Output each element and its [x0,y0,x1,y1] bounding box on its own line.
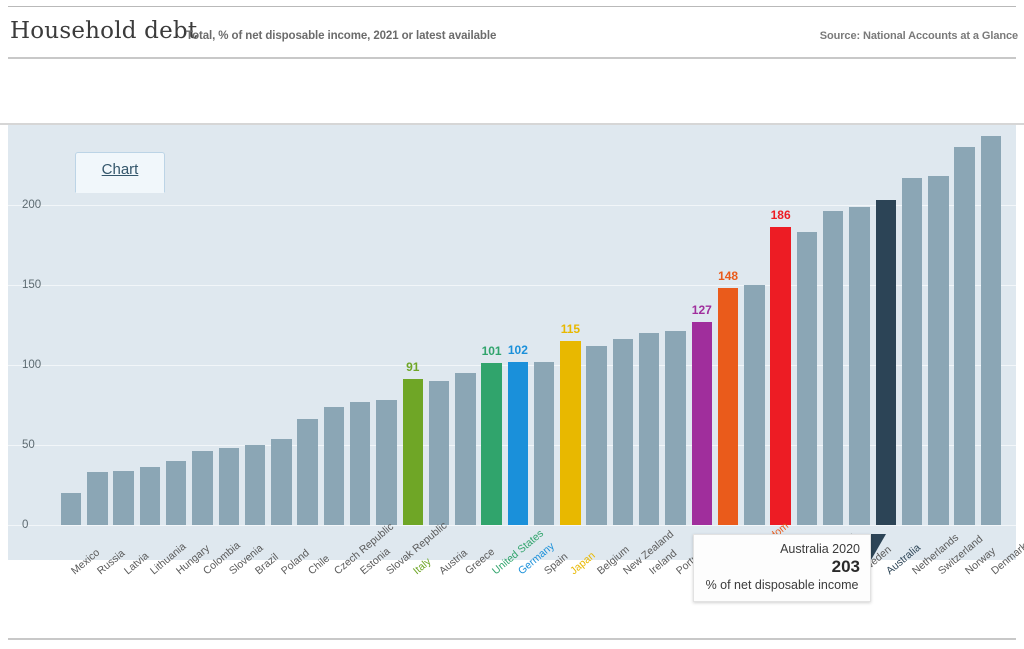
source-label: Source: National Accounts at a Glance [820,30,1018,42]
tooltip-unit: % of net disposable income [704,578,860,592]
bar-belgium[interactable] [586,346,606,525]
tooltip-tail [871,534,886,560]
household-debt-chart-page: Household debt Total, % of net disposabl… [0,0,1024,649]
tooltip-title: Australia 2020 [704,542,860,556]
bar-new-zealand[interactable] [613,339,633,525]
bar-ireland[interactable] [639,333,659,525]
tooltip: Australia 2020 203 % of net disposable i… [693,534,871,602]
bar-finland[interactable] [744,285,764,525]
y-tick-200: 200 [22,199,41,211]
bar-value-label-united-states: 101 [482,344,502,358]
bar-colombia[interactable] [192,451,212,525]
tooltip-value: 203 [704,557,860,577]
header-divider [8,57,1016,59]
bar-canada[interactable] [770,227,790,525]
y-tick-150: 150 [22,279,41,291]
bar-germany[interactable] [508,362,528,525]
bar-greece[interactable] [455,373,475,525]
bar-united-kingdom[interactable] [718,288,738,525]
chart-area: 05010015020091101102115127148186 MexicoR… [0,125,1024,640]
bar-luxembourg[interactable] [797,232,817,525]
bar-netherlands[interactable] [902,178,922,525]
bar-denmark[interactable] [981,136,1001,525]
bar-australia[interactable] [876,200,896,525]
bar-france[interactable] [692,322,712,525]
y-tick-50: 50 [22,439,35,451]
bar-value-label-italy: 91 [406,360,419,374]
tab-chart[interactable]: Chart [75,152,165,193]
y-tick-0: 0 [22,519,28,531]
y-tick-100: 100 [22,359,41,371]
bar-slovenia[interactable] [219,448,239,525]
page-header: Household debt Total, % of net disposabl… [0,10,1024,56]
tab-chart-label: Chart [102,161,139,178]
bar-value-label-canada: 186 [771,208,791,222]
view-toolbar: Show: Chart Map Table fullscreen [0,70,1024,126]
bar-austria[interactable] [429,381,449,525]
bar-russia[interactable] [87,472,107,525]
page-subtitle: Total, % of net disposable income, 2021 … [186,30,496,42]
bar-japan[interactable] [560,341,580,525]
bar-value-label-united-kingdom: 148 [718,269,738,283]
bar-portugal[interactable] [665,331,685,525]
bar-united-states[interactable] [481,363,501,525]
bottom-divider [8,638,1016,640]
bar-czech-republic[interactable] [324,407,344,525]
bar-mexico[interactable] [61,493,81,525]
bar-value-label-germany: 102 [508,343,528,357]
bar-value-label-japan: 115 [561,322,580,336]
bar-italy[interactable] [403,379,423,525]
top-divider [8,6,1016,7]
bar-value-label-france: 127 [692,303,712,317]
bar-norway[interactable] [954,147,974,525]
bar-spain[interactable] [534,362,554,525]
bar-slovak-republic[interactable] [376,400,396,525]
bar-estonia[interactable] [350,402,370,525]
bar-chile[interactable] [297,419,317,525]
bar-hungary[interactable] [166,461,186,525]
bar-brazil[interactable] [245,445,265,525]
bar-lithuania[interactable] [140,467,160,525]
bar-switzerland[interactable] [928,176,948,525]
bar-korea[interactable] [823,211,843,525]
bar-latvia[interactable] [113,471,133,525]
gridline-0 [8,525,1016,526]
page-title: Household debt [10,18,197,44]
bar-poland[interactable] [271,439,291,525]
bar-sweden[interactable] [849,207,869,525]
